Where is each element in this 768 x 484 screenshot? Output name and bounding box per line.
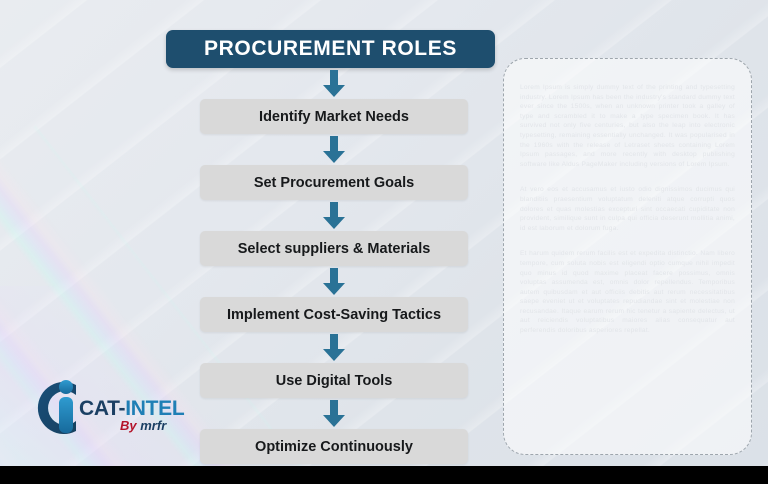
flow-step-label: Set Procurement Goals xyxy=(254,175,414,191)
cat-intel-logo: CAT-INTEL By mrfr xyxy=(36,378,186,440)
flow-step-1[interactable]: Set Procurement Goals xyxy=(200,165,468,200)
flow-step-2[interactable]: Select suppliers & Materials xyxy=(200,231,468,266)
flow-step-label: Identify Market Needs xyxy=(259,109,409,125)
flow-step-4[interactable]: Use Digital Tools xyxy=(200,363,468,398)
page-title-banner: PROCUREMENT ROLES xyxy=(166,30,495,68)
flow-arrow-0 xyxy=(200,68,468,99)
flow-step-3[interactable]: Implement Cost-Saving Tactics xyxy=(200,297,468,332)
flow-step-0[interactable]: Identify Market Needs xyxy=(200,99,468,134)
placeholder-paragraph-2: At vero eos et accusamus et iusto odio d… xyxy=(520,185,735,233)
page-title: PROCUREMENT ROLES xyxy=(204,37,457,61)
logo-byline: By mrfr xyxy=(120,418,166,433)
flow-step-label: Use Digital Tools xyxy=(276,373,393,389)
placeholder-text-panel: Lorem Ipsum is simply dummy text of the … xyxy=(503,58,752,455)
flow-arrow-4 xyxy=(200,332,468,363)
flow-arrow-2 xyxy=(200,200,468,231)
placeholder-paragraph-3: Et harum quidem rerum facilis est et exp… xyxy=(520,249,735,335)
slide-canvas: PROCUREMENT ROLES Identify Market Needs … xyxy=(0,0,768,466)
flow-step-label: Implement Cost-Saving Tactics xyxy=(227,307,441,323)
logo-word-cat: CAT- xyxy=(79,397,125,420)
logo-word-intel: INTEL xyxy=(125,397,184,420)
flow-arrow-1 xyxy=(200,134,468,165)
flow-step-label: Select suppliers & Materials xyxy=(238,241,431,257)
flow-arrow-3 xyxy=(200,266,468,297)
flow-step-label: Optimize Continuously xyxy=(255,439,413,455)
flow-step-5[interactable]: Optimize Continuously xyxy=(200,429,468,464)
flow-arrow-5 xyxy=(200,398,468,429)
bottom-letterbox-bar xyxy=(0,466,768,484)
procurement-flowchart: Identify Market Needs Set Procurement Go… xyxy=(200,68,468,464)
logo-byline-by: By xyxy=(120,418,137,433)
placeholder-paragraph-1: Lorem Ipsum is simply dummy text of the … xyxy=(520,83,735,169)
logo-byline-mrfr: mrfr xyxy=(140,418,166,433)
